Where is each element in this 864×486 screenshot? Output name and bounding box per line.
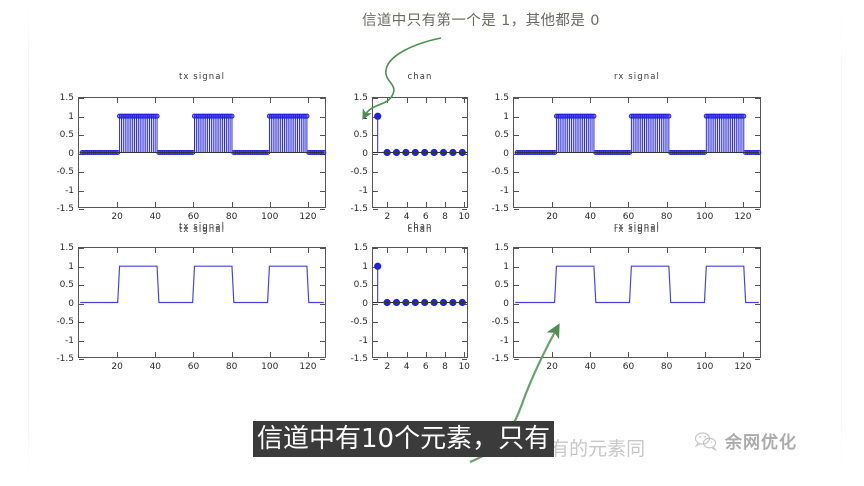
chart-title: rx signal xyxy=(513,72,761,82)
y-tick-mark xyxy=(462,359,467,360)
plot-area: -1.5-1-0.500.511.5246810 xyxy=(372,97,468,208)
plot-series xyxy=(514,98,760,207)
x-tick-label: 10 xyxy=(458,212,469,222)
x-tick-label: 80 xyxy=(226,212,237,222)
y-tick-label: -1 xyxy=(65,336,74,346)
y-tick-label: 0 xyxy=(68,299,74,309)
y-tick-label: 1.5 xyxy=(354,93,368,103)
y-tick-label: 1.5 xyxy=(354,243,368,253)
wechat-icon xyxy=(694,431,718,451)
plot-area: -1.5-1-0.500.511.520406080100120 xyxy=(78,97,326,208)
top-annotation-text: 信道中只有第一个是 1，其他都是 0 xyxy=(362,9,600,30)
x-tick-label: 40 xyxy=(585,212,596,222)
x-tick-label: 6 xyxy=(423,362,429,372)
y-tick-label: -0.5 xyxy=(491,317,509,327)
chart-title: chan xyxy=(372,222,468,232)
x-tick-label: 60 xyxy=(188,362,199,372)
y-tick-mark xyxy=(79,209,84,210)
x-tick-label: 60 xyxy=(623,212,634,222)
y-tick-label: 1.5 xyxy=(60,243,74,253)
y-tick-label: -0.5 xyxy=(56,317,74,327)
y-tick-mark xyxy=(320,359,325,360)
y-tick-mark xyxy=(755,209,760,210)
x-tick-label: 40 xyxy=(150,212,161,222)
y-tick-label: 1 xyxy=(68,262,74,272)
y-tick-label: 0 xyxy=(503,299,509,309)
chart-chan-line: chan -1.5-1-0.500.511.5246810 xyxy=(372,222,468,384)
y-tick-label: -1.5 xyxy=(56,204,74,214)
x-tick-label: 4 xyxy=(404,212,410,222)
y-tick-label: 1 xyxy=(362,112,368,122)
x-tick-label: 6 xyxy=(423,212,429,222)
x-tick-label: 120 xyxy=(299,212,316,222)
y-tick-label: -1.5 xyxy=(350,204,368,214)
x-tick-label: 100 xyxy=(261,362,278,372)
slide-canvas: 信道中只有第一个是 1，其他都是 0 tx signal -1.5-1-0.50… xyxy=(0,0,864,486)
plot-series xyxy=(373,248,467,357)
y-tick-label: 0 xyxy=(68,149,74,159)
chart-chan-stem: chan -1.5-1-0.500.511.5246810 chan xyxy=(372,72,468,234)
x-tick-label: 40 xyxy=(150,362,161,372)
x-tick-label: 80 xyxy=(661,212,672,222)
y-tick-label: -1.5 xyxy=(56,354,74,364)
y-tick-label: 1.5 xyxy=(495,243,509,253)
x-tick-label: 80 xyxy=(226,362,237,372)
x-tick-label: 2 xyxy=(385,362,391,372)
y-tick-label: 0.5 xyxy=(60,280,74,290)
y-tick-mark xyxy=(79,359,84,360)
chart-title: rx signal xyxy=(513,222,761,232)
x-tick-label: 60 xyxy=(188,212,199,222)
chart-tx-signal-stem: tx signal -1.5-1-0.500.511.5204060801001… xyxy=(78,72,326,234)
y-tick-label: -0.5 xyxy=(350,317,368,327)
y-tick-label: 1 xyxy=(503,262,509,272)
y-tick-label: -0.5 xyxy=(56,167,74,177)
plot-area: -1.5-1-0.500.511.520406080100120 xyxy=(78,247,326,358)
plot-series xyxy=(79,248,325,357)
watermark: 余网优化 xyxy=(694,428,797,453)
y-tick-label: 0.5 xyxy=(60,130,74,140)
y-tick-mark xyxy=(514,209,519,210)
y-tick-label: 0 xyxy=(362,299,368,309)
y-tick-label: -1 xyxy=(500,336,509,346)
watermark-text: 余网优化 xyxy=(725,428,797,453)
chart-rx-signal-line: rx signal -1.5-1-0.500.511.5204060801001… xyxy=(513,222,761,384)
y-tick-label: -1 xyxy=(65,186,74,196)
y-tick-label: -1.5 xyxy=(491,204,509,214)
plot-area: -1.5-1-0.500.511.520406080100120 xyxy=(513,97,761,208)
y-tick-label: -1 xyxy=(359,336,368,346)
y-tick-label: -0.5 xyxy=(350,167,368,177)
x-tick-label: 8 xyxy=(442,362,448,372)
x-tick-label: 10 xyxy=(458,362,469,372)
chart-tx-signal-line: tx signal -1.5-1-0.500.511.5204060801001… xyxy=(78,222,326,384)
chart-title: tx signal xyxy=(78,222,326,232)
plot-area: -1.5-1-0.500.511.5246810 xyxy=(372,247,468,358)
y-tick-label: 0.5 xyxy=(495,130,509,140)
slide-left-edge xyxy=(28,0,29,486)
y-tick-label: 0.5 xyxy=(354,130,368,140)
y-tick-label: 0.5 xyxy=(495,280,509,290)
x-tick-label: 2 xyxy=(385,212,391,222)
y-tick-mark xyxy=(514,359,519,360)
x-tick-label: 20 xyxy=(111,362,122,372)
y-tick-label: -1.5 xyxy=(491,354,509,364)
y-tick-mark xyxy=(320,209,325,210)
y-tick-label: -1 xyxy=(359,186,368,196)
x-tick-label: 20 xyxy=(111,212,122,222)
x-tick-label: 60 xyxy=(623,362,634,372)
y-tick-label: 1 xyxy=(68,112,74,122)
x-tick-label: 100 xyxy=(696,212,713,222)
chart-rx-signal-stem: rx signal -1.5-1-0.500.511.5204060801001… xyxy=(513,72,761,234)
y-tick-mark xyxy=(373,359,378,360)
y-tick-label: 1.5 xyxy=(60,93,74,103)
plot-series xyxy=(373,98,467,207)
plot-series xyxy=(514,248,760,357)
plot-series xyxy=(79,98,325,207)
y-tick-label: 1.5 xyxy=(495,93,509,103)
y-tick-label: 1 xyxy=(362,262,368,272)
x-tick-label: 120 xyxy=(299,362,316,372)
y-tick-label: 0.5 xyxy=(354,280,368,290)
x-tick-label: 120 xyxy=(734,212,751,222)
x-tick-label: 100 xyxy=(696,362,713,372)
y-tick-label: -1 xyxy=(500,186,509,196)
chart-title: tx signal xyxy=(78,72,326,82)
slide-right-edge xyxy=(841,0,842,486)
plot-area: -1.5-1-0.500.511.520406080100120 xyxy=(513,247,761,358)
caption-subtitle: 信道中有10个元素，只有 xyxy=(253,421,554,457)
x-tick-label: 120 xyxy=(734,362,751,372)
x-tick-label: 8 xyxy=(442,212,448,222)
y-tick-mark xyxy=(755,359,760,360)
y-tick-label: 0 xyxy=(362,149,368,159)
y-tick-label: -0.5 xyxy=(491,167,509,177)
y-tick-label: 1 xyxy=(503,112,509,122)
y-tick-label: 0 xyxy=(503,149,509,159)
x-tick-label: 40 xyxy=(585,362,596,372)
x-tick-label: 4 xyxy=(404,362,410,372)
y-tick-label: -1.5 xyxy=(350,354,368,364)
x-tick-label: 20 xyxy=(546,362,557,372)
chart-title: chan xyxy=(372,72,468,82)
x-tick-label: 100 xyxy=(261,212,278,222)
x-tick-label: 80 xyxy=(661,362,672,372)
y-tick-mark xyxy=(373,209,378,210)
y-tick-mark xyxy=(462,209,467,210)
x-tick-label: 20 xyxy=(546,212,557,222)
